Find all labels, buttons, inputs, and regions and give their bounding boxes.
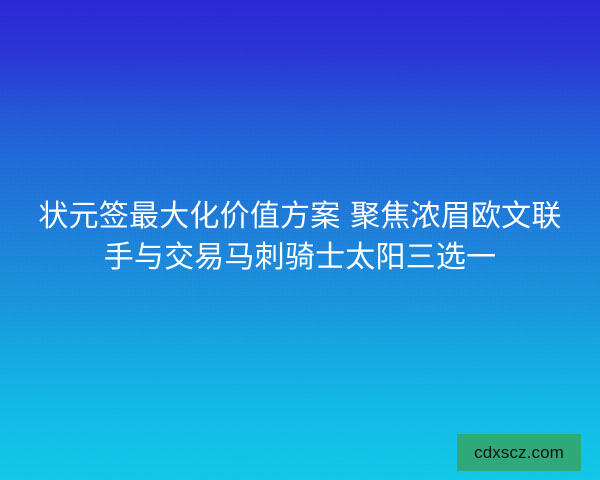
image-canvas: 状元签最大化价值方案 聚焦浓眉欧文联手与交易马刺骑士太阳三选一 cdxscz.c… bbox=[0, 0, 600, 480]
watermark-label: cdxscz.com bbox=[474, 444, 564, 461]
background-gradient bbox=[0, 0, 600, 480]
watermark-badge: cdxscz.com bbox=[457, 434, 581, 471]
